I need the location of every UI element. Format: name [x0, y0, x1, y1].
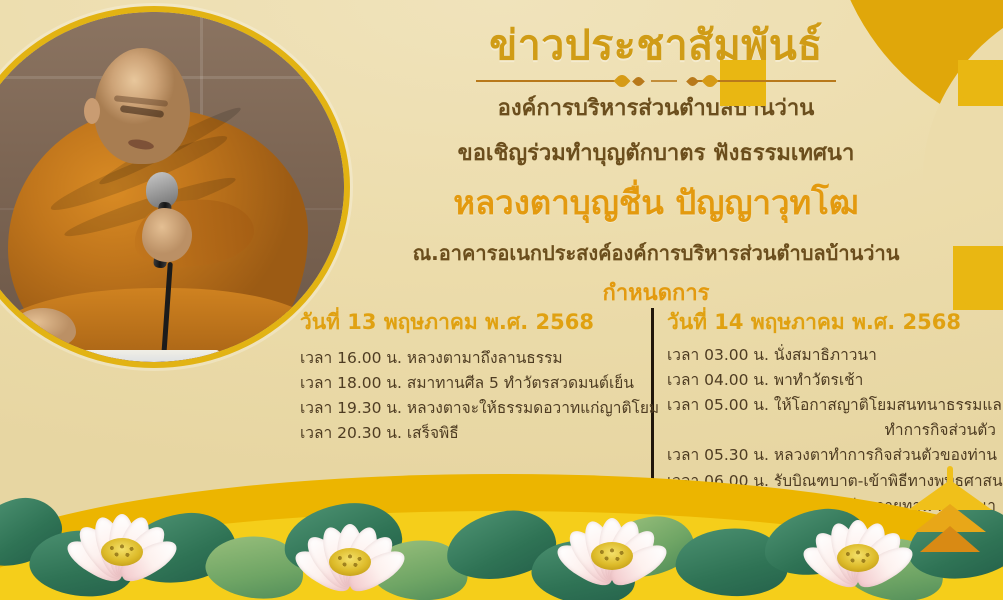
divider-bar — [651, 80, 677, 82]
schedule-item: เวลา 18.00 น. สมาทานศีล 5 ทำวัตรสวดมนต์เ… — [300, 371, 627, 396]
book-prop — [30, 350, 220, 362]
announcement-poster: ข่าวประชาสัมพันธ์ องค์การบริหารส่วนตำบลบ… — [0, 0, 1003, 600]
monk-ear — [84, 98, 100, 124]
day1-date-title: วันที่ 13 พฤษภาคม พ.ศ. 2568 — [300, 306, 627, 339]
lotus-icon — [794, 488, 922, 588]
divider-diamond-icon — [614, 73, 631, 90]
schedule-item: เวลา 16.00 น. หลวงตามาถึงลานธรรม — [300, 346, 627, 371]
schedule-item: เวลา 05.00 น. ให้โอกาสญาติโยมสนทนาธรรมแล… — [667, 393, 1000, 418]
lotus-icon — [58, 482, 186, 582]
temple-roof-tier — [920, 526, 980, 552]
monk-photo — [0, 12, 344, 362]
quatrefoil-icon — [958, 60, 1003, 106]
schedule-item: เวลา 03.00 น. นั่งสมาธิภาวนา — [667, 343, 1000, 368]
divider-bar — [476, 80, 624, 82]
agenda-label: กำหนดการ — [320, 275, 992, 310]
monk-name: หลวงตาบุญชื่น ปัญญาวุทโฒ — [320, 176, 992, 229]
schedule-item: เวลา 04.00 น. พาทำวัตรเช้า — [667, 368, 1000, 393]
divider-diamond-icon — [686, 75, 699, 88]
schedule-item-continuation: ทำการกิจส่วนตัว — [667, 418, 1000, 443]
lotus-icon — [286, 492, 414, 592]
header-block: ข่าวประชาสัมพันธ์ องค์การบริหารส่วนตำบลบ… — [320, 22, 992, 310]
venue-line: ณ.อาคารอเนกประสงค์องค์การบริหารส่วนตำบลบ… — [320, 237, 992, 269]
schedule-item: เวลา 19.30 น. หลวงตาจะให้ธรรมดอวาทแก่ญาต… — [300, 396, 627, 421]
quatrefoil-icon — [953, 246, 1003, 310]
divider-diamond-icon — [702, 73, 719, 90]
lotus-icon — [548, 486, 676, 586]
monk-hand-resting — [10, 308, 76, 348]
page-title: ข่าวประชาสัมพันธ์ — [320, 22, 992, 69]
monk-photo-frame — [0, 6, 350, 368]
divider-diamond-icon — [632, 75, 645, 88]
organization-name: องค์การบริหารส่วนตำบลบ้านว่าน — [320, 92, 992, 125]
schedule-item: เวลา 20.30 น. เสร็จพิธี — [300, 421, 627, 446]
schedule-item: เวลา 05.30 น. หลวงตาทำการกิจส่วนตัวของท่… — [667, 443, 1000, 468]
invitation-line: ขอเชิญร่วมทำบุญตักบาตร ฟังธรรมเทศนา — [320, 135, 992, 170]
title-divider-ornament — [476, 74, 836, 88]
day2-date-title: วันที่ 14 พฤษภาคม พ.ศ. 2568 — [667, 306, 1000, 339]
monk-hand — [142, 208, 192, 262]
